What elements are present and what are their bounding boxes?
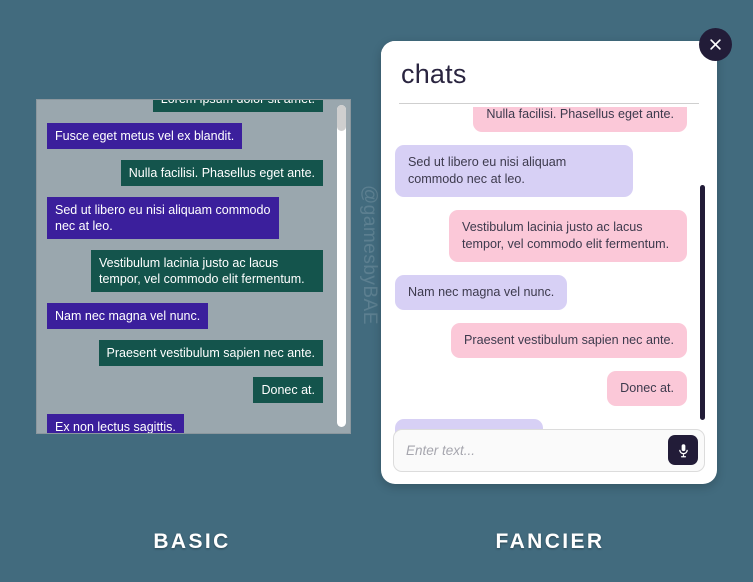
caption-fancier: FANCIER [430,530,670,554]
message-row: Vestibulum lacinia justo ac lacus tempor… [47,250,323,292]
message-row: Fusce eget metus vel ex blandit. [47,123,323,149]
fancier-scrollbar[interactable] [700,185,705,420]
message-bubble[interactable]: Sed ut libero eu nisi aliquam commodo ne… [395,145,633,197]
fancier-chat-panel: Nulla facilisi. Phasellus eget ante.Sed … [381,41,717,484]
header-divider [399,103,699,104]
message-bubble[interactable]: Donec at. [607,371,687,406]
close-icon [708,37,723,52]
message-bubble[interactable]: Vestibulum lacinia justo ac lacus tempor… [91,250,323,292]
message-bubble[interactable]: Ex non lectus sagittis. [47,414,184,434]
message-row: Nulla facilisi. Phasellus eget ante. [47,160,323,186]
message-bubble[interactable]: Nulla facilisi. Phasellus eget ante. [121,160,323,186]
fancier-header: chats [381,41,717,107]
message-bubble[interactable]: Vestibulum lacinia justo ac lacus tempor… [449,210,687,262]
close-button[interactable] [699,28,732,61]
basic-scrollbar-thumb[interactable] [337,105,346,131]
message-bubble[interactable]: Nam nec magna vel nunc. [395,275,567,310]
message-bubble[interactable]: Praesent vestibulum sapien nec ante. [451,323,687,358]
message-row: Praesent vestibulum sapien nec ante. [47,340,323,366]
caption-basic: BASIC [86,530,298,554]
message-bubble[interactable]: Lorem ipsum dolor sit amet. [153,99,323,112]
message-row: Donec at. [395,371,687,406]
message-row: Ex non lectus sagittis. [47,414,323,434]
message-input[interactable] [394,430,652,471]
message-composer [393,429,705,472]
message-row: Nam nec magna vel nunc. [395,275,687,310]
app-canvas: @gamesbyBAE Lorem ipsum dolor sit amet.F… [0,0,753,582]
message-bubble[interactable]: Praesent vestibulum sapien nec ante. [99,340,323,366]
message-bubble[interactable]: Sed ut libero eu nisi aliquam commodo ne… [47,197,279,239]
fancier-message-list: Nulla facilisi. Phasellus eget ante.Sed … [381,85,701,467]
basic-scrollbar[interactable] [337,105,346,427]
message-row: Lorem ipsum dolor sit amet. [47,99,323,112]
message-bubble[interactable]: Nam nec magna vel nunc. [47,303,208,329]
message-row: Nam nec magna vel nunc. [47,303,323,329]
message-bubble[interactable]: Fusce eget metus vel ex blandit. [47,123,242,149]
basic-message-list: Lorem ipsum dolor sit amet.Fusce eget me… [37,99,333,434]
message-bubble[interactable]: Donec at. [253,377,323,403]
message-row: Donec at. [47,377,323,403]
message-row: Vestibulum lacinia justo ac lacus tempor… [395,210,687,262]
message-row: Sed ut libero eu nisi aliquam commodo ne… [47,197,323,239]
basic-chat-panel: Lorem ipsum dolor sit amet.Fusce eget me… [36,99,351,434]
page-title: chats [401,59,467,90]
microphone-icon [676,443,691,458]
message-row: Praesent vestibulum sapien nec ante. [395,323,687,358]
microphone-button[interactable] [668,435,698,465]
message-row: Sed ut libero eu nisi aliquam commodo ne… [395,145,687,197]
